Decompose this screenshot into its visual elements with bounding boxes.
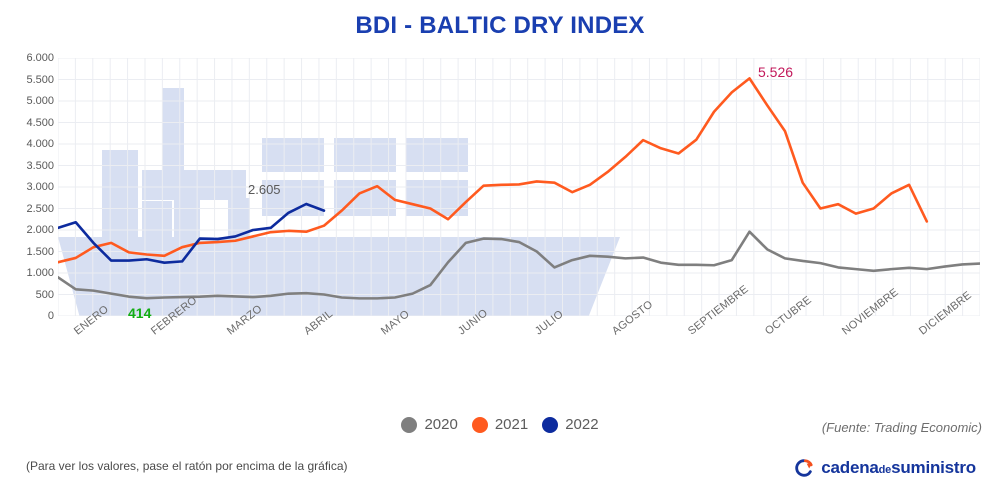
y-tick-label: 4.500 bbox=[2, 117, 54, 129]
legend-dot-icon bbox=[401, 417, 417, 433]
brand-name-part1: cadena bbox=[821, 458, 878, 477]
brand-name: cadenadesuministro bbox=[821, 458, 976, 478]
bdi-chart: BDI - BALTIC DRY INDEX 6.0005.5005.0004.… bbox=[0, 0, 1000, 500]
legend-item-2021[interactable]: 2021 bbox=[472, 416, 528, 433]
y-tick-label: 5.500 bbox=[2, 74, 54, 86]
y-tick-label: 5.000 bbox=[2, 95, 54, 107]
y-tick-label: 500 bbox=[2, 289, 54, 301]
brand-logo[interactable]: cadenadesuministro bbox=[794, 458, 976, 478]
hover-hint-note: (Para ver los valores, pase el ratón por… bbox=[26, 459, 348, 473]
y-tick-label: 1.500 bbox=[2, 246, 54, 258]
y-tick-label: 2.000 bbox=[2, 224, 54, 236]
page-title: BDI - BALTIC DRY INDEX bbox=[0, 12, 1000, 40]
y-axis: 6.0005.5005.0004.5004.0003.5003.0002.500… bbox=[0, 58, 54, 316]
legend-item-2022[interactable]: 2022 bbox=[542, 416, 598, 433]
x-axis: ENEROFEBREROMARZOABRILMAYOJUNIOJULIOAGOS… bbox=[0, 316, 1000, 386]
y-tick-label: 1.000 bbox=[2, 267, 54, 279]
y-tick-label: 3.500 bbox=[2, 160, 54, 172]
legend-item-2020[interactable]: 2020 bbox=[401, 416, 457, 433]
legend-label: 2021 bbox=[495, 416, 528, 433]
legend-label: 2020 bbox=[424, 416, 457, 433]
legend-dot-icon bbox=[542, 417, 558, 433]
plot-area[interactable] bbox=[58, 58, 980, 316]
source-note: (Fuente: Trading Economic) bbox=[822, 420, 982, 435]
brand-name-part2: suministro bbox=[891, 458, 976, 477]
y-tick-label: 4.000 bbox=[2, 138, 54, 150]
annot-414: 414 bbox=[128, 305, 151, 321]
y-tick-label: 2.500 bbox=[2, 203, 54, 215]
y-tick-label: 3.000 bbox=[2, 181, 54, 193]
annot-5526: 5.526 bbox=[758, 64, 793, 80]
circular-arrow-icon bbox=[794, 458, 814, 478]
annot-2605: 2.605 bbox=[248, 182, 281, 197]
brand-name-de: de bbox=[879, 464, 891, 476]
legend-dot-icon bbox=[472, 417, 488, 433]
y-tick-label: 6.000 bbox=[2, 52, 54, 64]
legend-label: 2022 bbox=[565, 416, 598, 433]
